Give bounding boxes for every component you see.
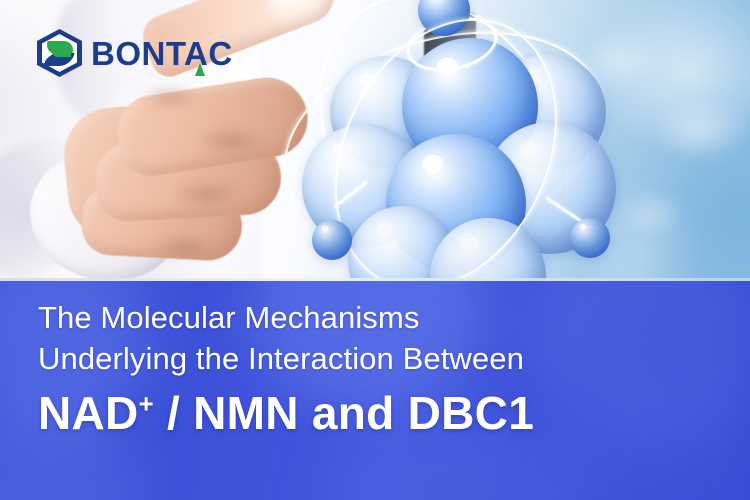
knuckle-shadow: [152, 236, 216, 258]
bontac-hexagon-leaf-logo-icon: [37, 29, 82, 77]
title-emphasis-superscript: +: [139, 391, 154, 419]
brand-name: BONTAC: [91, 37, 233, 70]
brand-logo[interactable]: BONTAC: [37, 29, 233, 77]
hero-image: BONTAC: [0, 0, 750, 281]
atom-sphere-small: [312, 220, 352, 260]
title-block: The Molecular Mechanisms Underlying the …: [38, 297, 728, 441]
knuckle-shadow: [140, 86, 200, 108]
green-triangle-accent-icon: [195, 63, 205, 76]
atom-sphere-small: [570, 218, 610, 258]
knuckle-shadow: [172, 182, 242, 206]
title-line-1: The Molecular Mechanisms: [38, 297, 728, 338]
title-line-2: Underlying the Interaction Between: [38, 338, 728, 379]
title-emphasis-prefix: NAD: [38, 387, 139, 439]
molecule-illustration: [278, 0, 608, 281]
title-emphasis: NAD+ / NMN and DBC1: [38, 385, 728, 441]
title-emphasis-suffix: / NMN and DBC1: [154, 387, 534, 439]
knuckle-shadow: [196, 128, 266, 154]
title-banner: The Molecular Mechanisms Underlying the …: [0, 281, 750, 500]
promo-banner: BONTAC The Molecular Mechanisms Underlyi…: [0, 0, 750, 500]
